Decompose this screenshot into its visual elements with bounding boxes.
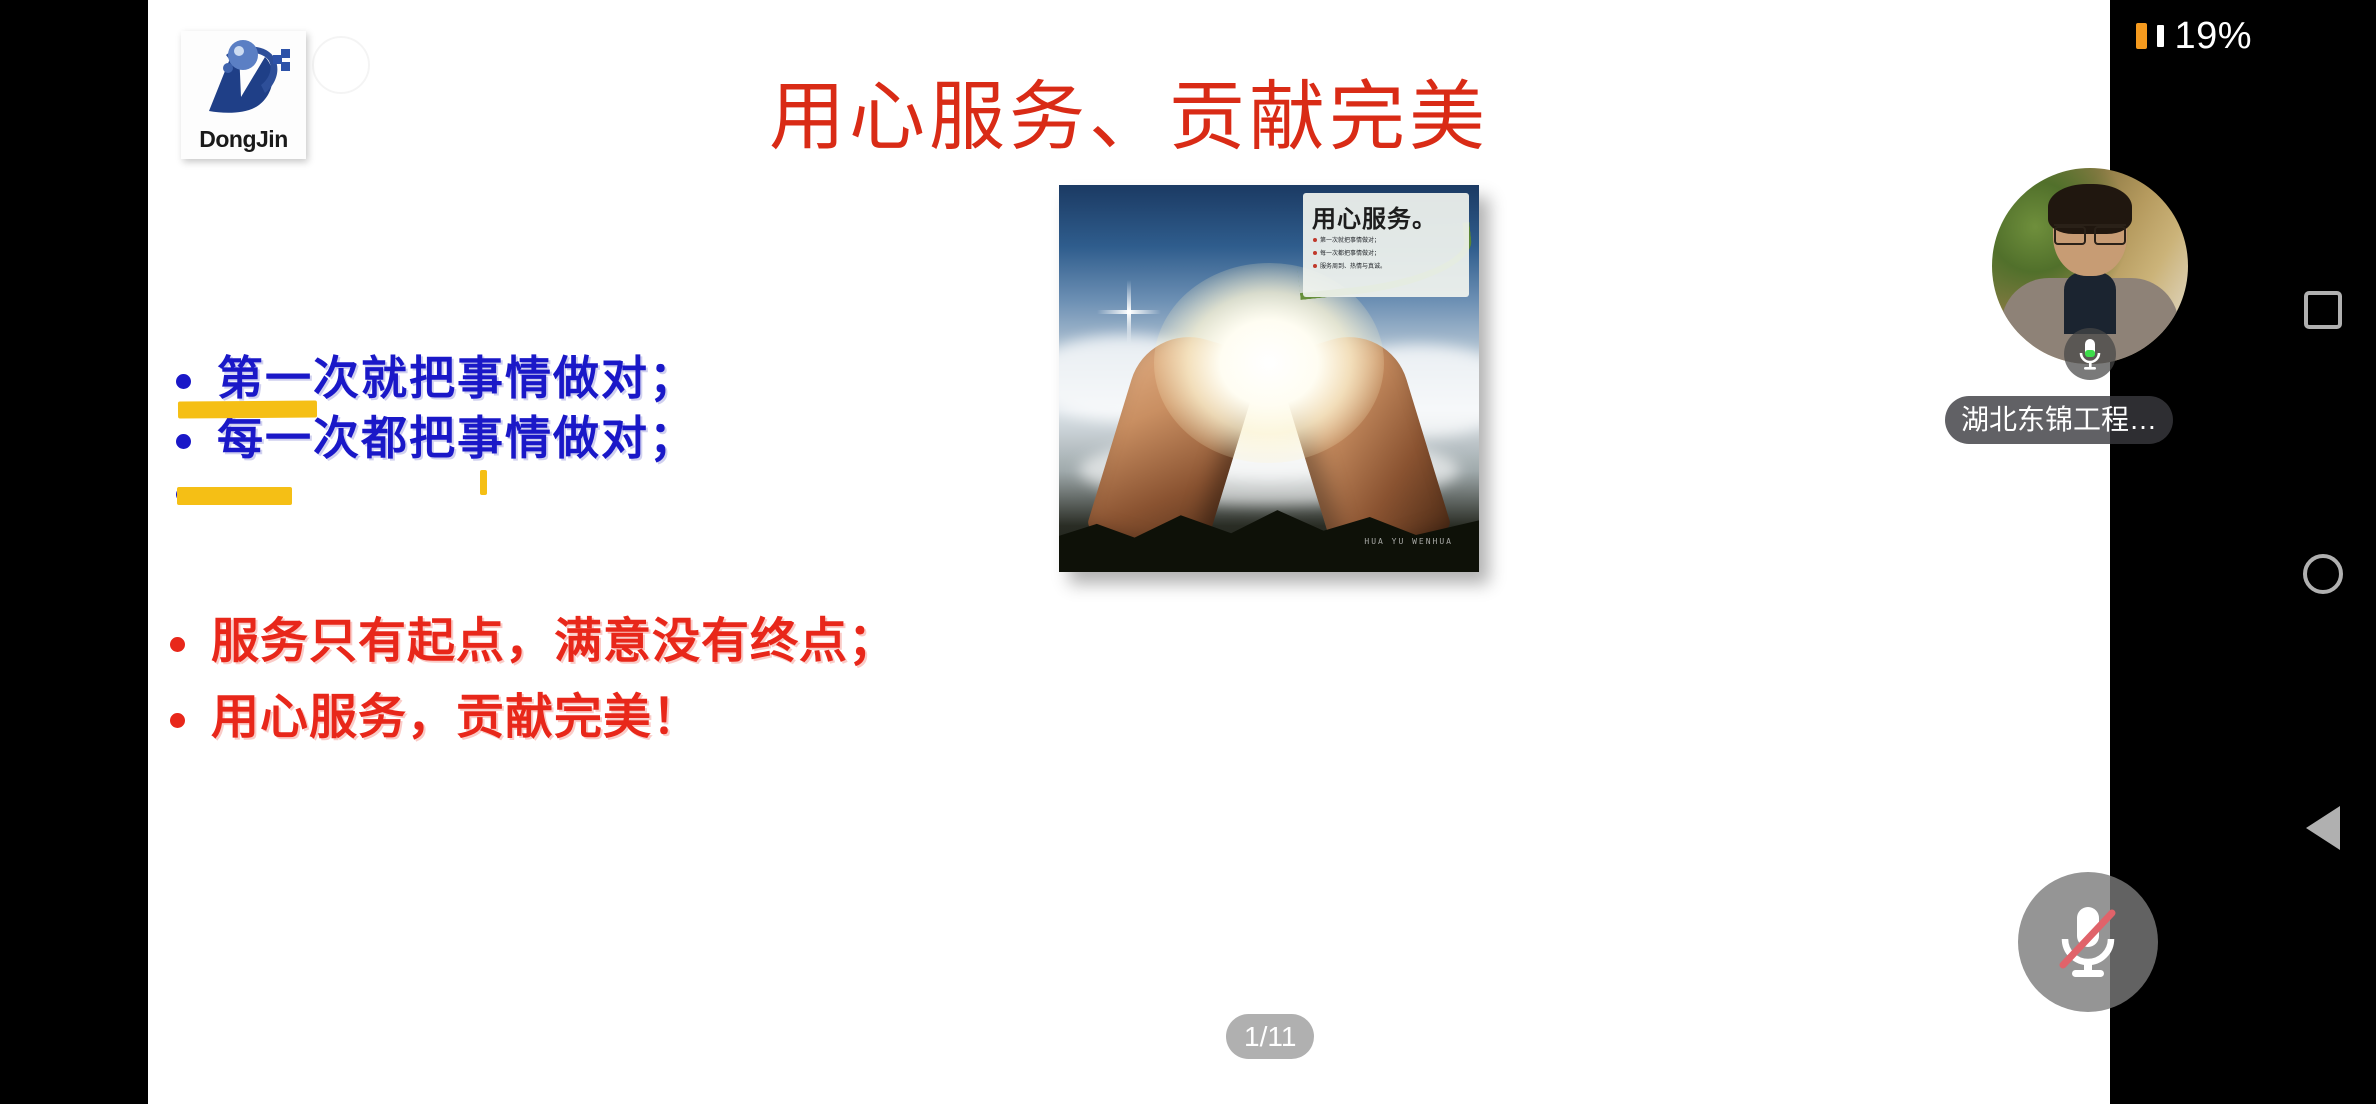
callout-dot-icon [1313, 264, 1317, 268]
list-item: 服务只有起点，满意没有终点； [170, 617, 1070, 665]
callout-line: 服务周到、热情与真诚。 [1313, 261, 1386, 270]
list-item [176, 475, 1016, 502]
callout-line-text: 服务周到、热情与真诚。 [1320, 261, 1386, 270]
list-item: 每一次都把事情做对； [176, 415, 1016, 461]
highlighter-stroke [480, 470, 487, 495]
avatar-neck [2064, 272, 2116, 334]
callout-lines: 第一次就把事情做对； 每一次都把事情做对； 服务周到、热情与真诚。 [1313, 235, 1386, 274]
list-item: 第一次就把事情做对； [176, 355, 1016, 401]
image-callout: 用心服务。 第一次就把事情做对； 每一次都把事情做对； 服务周到、热情与真 [1303, 193, 1469, 297]
square-icon [2304, 291, 2342, 329]
nav-recents-button[interactable] [2295, 282, 2351, 338]
slide-image: 用心服务。 第一次就把事情做对； 每一次都把事情做对； 服务周到、热情与真 [1059, 185, 1479, 572]
microphone-muted-icon [2050, 899, 2126, 985]
callout-line-text: 每一次都把事情做对； [1320, 248, 1380, 257]
image-credit: HUA YU WENHUA [1364, 537, 1453, 546]
participant-video-bubble[interactable] [1992, 168, 2188, 364]
mute-toggle-button[interactable] [2018, 872, 2158, 1012]
highlighter-stroke [178, 401, 317, 419]
battery-icon [2157, 25, 2164, 47]
bullet-text: 用心服务，贡献完美！ [211, 693, 701, 741]
device-screen: DongJin 用心服务、贡献完美 第一次就把事情做对； 每一次都把事情做对； [0, 0, 2376, 1104]
bullet-dot-icon [176, 374, 191, 389]
bullet-dot-icon [170, 637, 185, 652]
battery-charge-icon [2136, 23, 2147, 49]
page-indicator: 1/11 [1226, 1014, 1314, 1059]
bullet-dot-icon [176, 434, 191, 449]
sparkle-icon [1127, 280, 1131, 344]
triangle-back-icon [2306, 806, 2340, 850]
status-bar: 19% [2136, 0, 2270, 72]
blue-bullet-list: 第一次就把事情做对； 每一次都把事情做对； [176, 355, 1016, 502]
heart-hands-photo: 用心服务。 第一次就把事情做对； 每一次都把事情做对； 服务周到、热情与真 [1059, 185, 1479, 572]
red-bullet-list: 服务只有起点，满意没有终点； 用心服务，贡献完美！ [170, 617, 1070, 741]
bullet-text: 每一次都把事情做对； [217, 415, 697, 461]
callout-dot-icon [1313, 238, 1317, 242]
participant-name-label: 湖北东锦工程… [1945, 396, 2173, 444]
callout-line-text: 第一次就把事情做对； [1320, 235, 1380, 244]
bullet-text: 第一次就把事情做对； [217, 355, 697, 401]
bullet-text: 服务只有起点，满意没有终点； [211, 617, 897, 665]
highlighter-stroke [177, 487, 292, 505]
callout-title: 用心服务。 [1312, 199, 1437, 234]
battery-percent-label: 19% [2174, 15, 2252, 58]
participant-mic-icon [2064, 328, 2116, 380]
android-navigation-bar [2270, 0, 2376, 1104]
left-bezel [0, 0, 148, 1104]
callout-line: 每一次都把事情做对； [1313, 248, 1386, 257]
microphone-level-icon [2077, 337, 2103, 371]
circle-icon [2303, 554, 2343, 594]
callout-dot-icon [1313, 251, 1317, 255]
avatar-glasses [2054, 224, 2126, 240]
shared-slide[interactable]: DongJin 用心服务、贡献完美 第一次就把事情做对； 每一次都把事情做对； [148, 0, 2110, 1104]
nav-back-button[interactable] [2295, 800, 2351, 856]
list-item: 用心服务，贡献完美！ [170, 693, 1070, 741]
slide-title: 用心服务、贡献完美 [148, 55, 2110, 165]
callout-line: 第一次就把事情做对； [1313, 235, 1386, 244]
bullet-dot-icon [170, 713, 185, 728]
nav-home-button[interactable] [2295, 546, 2351, 602]
